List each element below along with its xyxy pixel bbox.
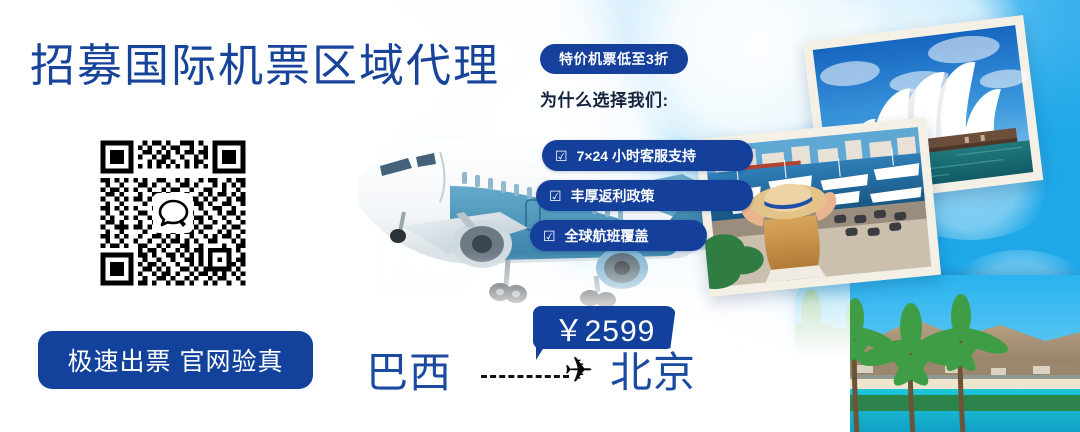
feature-pill-coverage[interactable]: ☑ 全球航班覆盖 [530,220,707,251]
why-choose-us-heading: 为什么选择我们: [540,86,669,111]
speech-bubble-icon [153,193,193,233]
feature-pill-support[interactable]: ☑ 7×24 小时客服支持 [542,140,753,171]
feature-pill-label: 丰厚返利政策 [571,186,655,206]
qr-code[interactable] [96,136,250,290]
cta-button[interactable]: 极速出票 官网验真 [38,331,313,389]
route-origin: 巴西 [366,352,452,394]
feature-pill-rebate[interactable]: ☑ 丰厚返利政策 [536,180,753,211]
checkbox-checked-icon: ☑ [543,229,556,243]
checkbox-checked-icon: ☑ [555,149,568,163]
airplane-icon: ✈ [564,353,593,388]
flight-route: 巴西 ✈ 北京 [366,348,706,404]
feature-pill-label: 全球航班覆盖 [565,226,649,246]
route-destination: 北京 [610,352,696,394]
discount-badge: 特价机票低至3折 [540,44,688,74]
checkbox-checked-icon: ☑ [549,189,562,203]
promo-banner: 招募国际机票区域代理 [0,0,1080,432]
price-bubble: ￥2599 [533,306,676,349]
page-title: 招募国际机票区域代理 [30,43,500,88]
feature-pill-label: 7×24 小时客服支持 [577,146,696,166]
route-dashed-line [481,375,569,378]
